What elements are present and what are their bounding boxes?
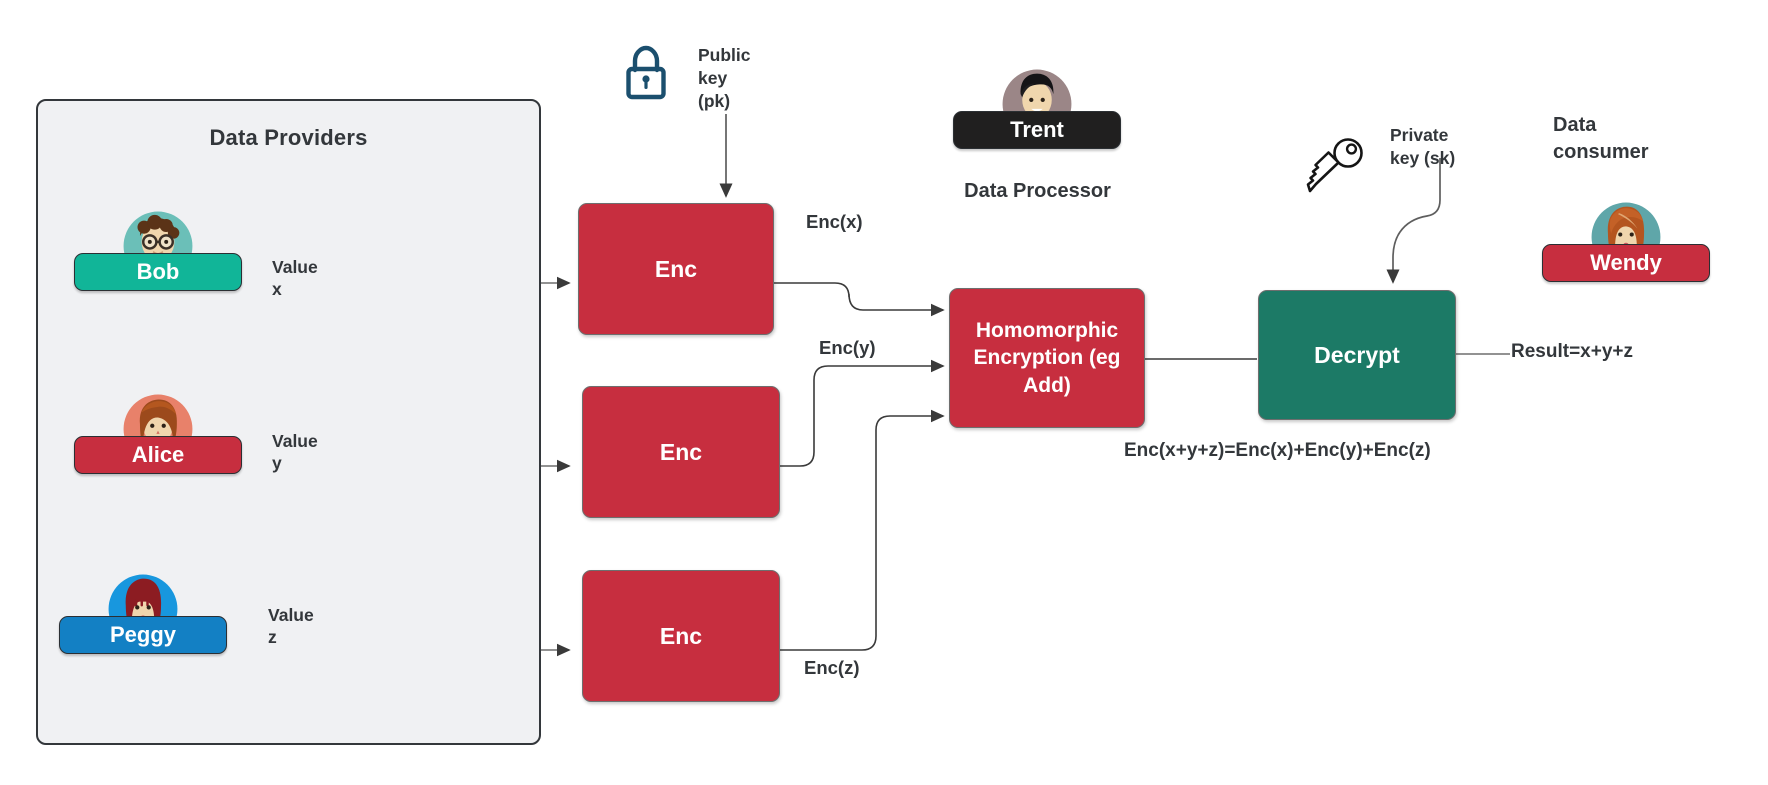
private-key-label: Private key (sk) [1390, 124, 1510, 170]
data-consumer-wendy[interactable]: Wendy [1542, 196, 1710, 286]
alice-name-pill[interactable]: Alice [74, 436, 242, 474]
enc-box-2[interactable]: Enc [582, 386, 780, 518]
wire-enc2-to-he [780, 366, 943, 466]
value-label-z: Value z [268, 604, 338, 649]
enc-z-text: Enc(z) [804, 657, 860, 678]
data-consumer-role-label: Data consumer [1553, 112, 1703, 165]
enc-box-3-label: Enc [660, 623, 702, 650]
he-box-line3: Add) [1023, 372, 1071, 399]
enc-z-label: Enc(z) [804, 657, 860, 679]
public-key-label: Public key (pk) [698, 44, 788, 112]
result-label: Result=x+y+z [1511, 341, 1633, 363]
public-key-icon [624, 44, 668, 109]
data-providers-title: Data Providers [36, 125, 541, 151]
equation-label: Enc(x+y+z)=Enc(x)+Enc(y)+Enc(z) [1124, 440, 1431, 462]
peggy-name-pill[interactable]: Peggy [59, 616, 227, 654]
homomorphic-encryption-box[interactable]: Homomorphic Encryption (eg Add) [949, 288, 1145, 428]
decrypt-box[interactable]: Decrypt [1258, 290, 1456, 420]
data-processor-role-label: Data Processor [920, 180, 1155, 203]
wire-enc1-to-he [774, 283, 943, 310]
enc-x-label: Enc(x) [806, 211, 863, 233]
trent-name-label: Trent [1010, 117, 1064, 143]
decrypt-box-label: Decrypt [1314, 342, 1400, 369]
data-processor-trent[interactable]: Trent [953, 63, 1121, 153]
wire-enc3-to-he [780, 416, 943, 650]
enc-y-label: Enc(y) [819, 337, 876, 359]
data-consumer-line1: Data [1553, 112, 1703, 139]
enc-y-text: Enc(y) [819, 337, 876, 358]
value-z-line2: z [268, 626, 338, 648]
wendy-name-pill[interactable]: Wendy [1542, 244, 1710, 282]
enc-box-2-label: Enc [660, 439, 702, 466]
value-y-line1: Value [272, 430, 342, 452]
result-text: Result=x+y+z [1511, 341, 1633, 362]
private-key-line1: Private [1390, 124, 1510, 147]
trent-name-pill[interactable]: Trent [953, 111, 1121, 149]
he-box-line2: Encryption (eg [973, 344, 1120, 371]
value-y-line2: y [272, 452, 342, 474]
equation-text: Enc(x+y+z)=Enc(x)+Enc(y)+Enc(z) [1124, 440, 1431, 461]
bob-name-label: Bob [137, 259, 180, 285]
data-processor-role-text: Data Processor [964, 180, 1111, 202]
enc-box-1[interactable]: Enc [578, 203, 774, 335]
value-x-line1: Value [272, 256, 342, 278]
diagram-canvas: Data Providers [0, 0, 1768, 785]
peggy-name-label: Peggy [110, 622, 176, 648]
provider-bob[interactable]: Bob [74, 205, 242, 295]
he-box-line1: Homomorphic [976, 317, 1118, 344]
enc-x-text: Enc(x) [806, 211, 863, 232]
provider-peggy[interactable]: Peggy [59, 568, 227, 658]
bob-name-pill[interactable]: Bob [74, 253, 242, 291]
enc-box-1-label: Enc [655, 256, 697, 283]
wire-sk-to-decrypt [1393, 158, 1440, 282]
enc-box-3[interactable]: Enc [582, 570, 780, 702]
provider-alice[interactable]: Alice [74, 388, 242, 478]
alice-name-label: Alice [132, 442, 185, 468]
public-key-line3: (pk) [698, 90, 788, 113]
value-z-line1: Value [268, 604, 338, 626]
public-key-line2: key [698, 67, 788, 90]
private-key-icon [1304, 137, 1366, 200]
value-label-x: Value x [272, 256, 342, 301]
value-x-line2: x [272, 278, 342, 300]
value-label-y: Value y [272, 430, 342, 475]
data-consumer-line2: consumer [1553, 139, 1703, 166]
private-key-line2: key (sk) [1390, 147, 1510, 170]
wendy-name-label: Wendy [1590, 250, 1662, 276]
public-key-line1: Public [698, 44, 788, 67]
